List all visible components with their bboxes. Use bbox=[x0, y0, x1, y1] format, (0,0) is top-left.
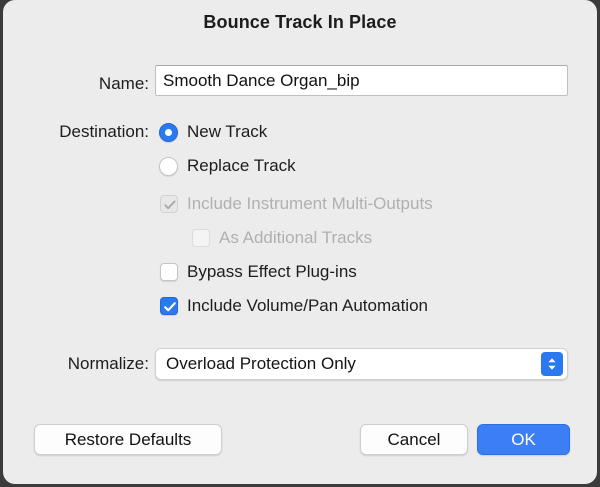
checkbox-bypass-effect-plug-ins[interactable]: Bypass Effect Plug-ins bbox=[160, 262, 357, 282]
radio-on-icon bbox=[159, 123, 178, 142]
checkbox-bypass-effect-plug-ins-label: Bypass Effect Plug-ins bbox=[187, 262, 357, 282]
checkbox-include-volume-pan-automation[interactable]: Include Volume/Pan Automation bbox=[160, 296, 428, 316]
checkmark-icon bbox=[160, 297, 178, 315]
name-label: Name: bbox=[9, 74, 149, 94]
dialog-title: Bounce Track In Place bbox=[3, 12, 597, 33]
cancel-button[interactable]: Cancel bbox=[360, 424, 468, 455]
radio-new-track-label: New Track bbox=[187, 122, 267, 142]
chevron-up-down-icon bbox=[541, 352, 563, 376]
normalize-select[interactable]: Overload Protection Only bbox=[155, 348, 568, 380]
checkmark-disabled-icon bbox=[160, 195, 178, 213]
normalize-label: Normalize: bbox=[9, 354, 149, 374]
restore-defaults-button[interactable]: Restore Defaults bbox=[34, 424, 222, 455]
radio-replace-track-label: Replace Track bbox=[187, 156, 296, 176]
radio-new-track[interactable]: New Track bbox=[159, 122, 267, 142]
checkbox-include-volume-pan-automation-label: Include Volume/Pan Automation bbox=[187, 296, 428, 316]
destination-label: Destination: bbox=[9, 122, 149, 142]
checkbox-empty-icon bbox=[160, 263, 178, 281]
checkbox-as-additional-tracks: As Additional Tracks bbox=[192, 228, 372, 248]
checkbox-include-instrument-multi-outputs: Include Instrument Multi-Outputs bbox=[160, 194, 433, 214]
normalize-select-value: Overload Protection Only bbox=[166, 349, 356, 379]
name-input[interactable]: Smooth Dance Organ_bip bbox=[155, 65, 568, 96]
radio-replace-track[interactable]: Replace Track bbox=[159, 156, 296, 176]
checkbox-as-additional-tracks-label: As Additional Tracks bbox=[219, 228, 372, 248]
checkbox-empty-disabled-icon bbox=[192, 229, 210, 247]
checkbox-include-instrument-multi-outputs-label: Include Instrument Multi-Outputs bbox=[187, 194, 433, 214]
radio-off-icon bbox=[159, 157, 178, 176]
bounce-track-dialog: Bounce Track In Place Name: Smooth Dance… bbox=[3, 0, 597, 484]
ok-button[interactable]: OK bbox=[477, 424, 570, 455]
